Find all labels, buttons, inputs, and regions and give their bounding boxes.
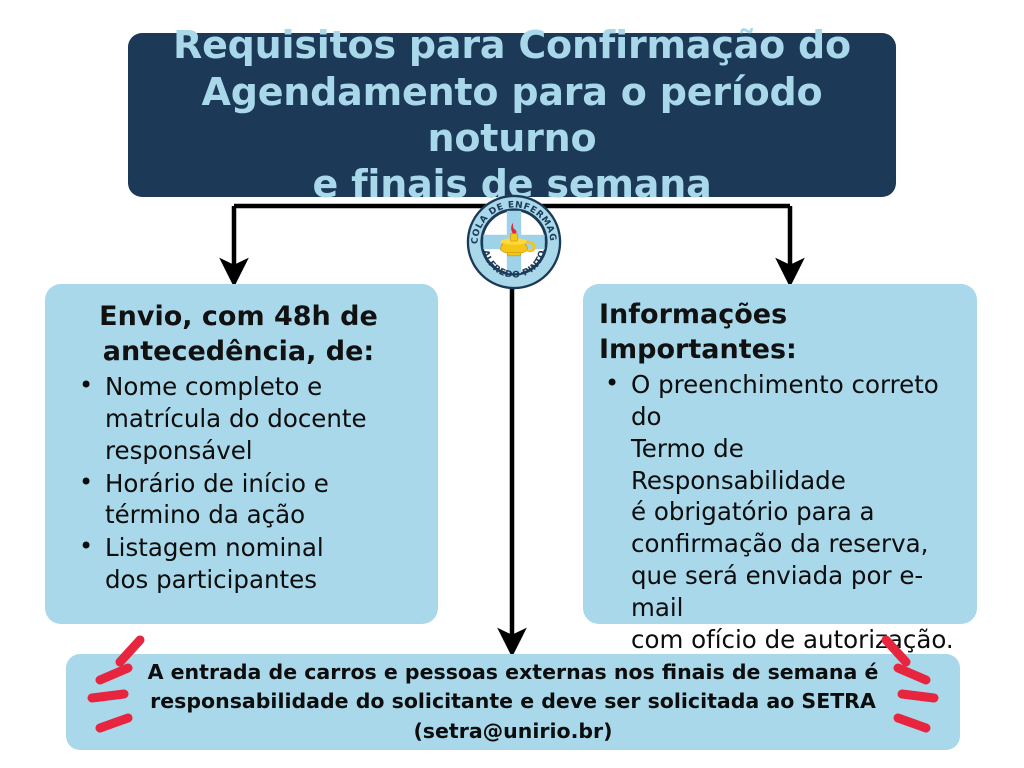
list-item: O preenchimento correto do Termo de Resp… — [595, 369, 963, 656]
bottom-notice-text: A entrada de carros e pessoas externas n… — [148, 658, 879, 745]
card-envio-heading: Envio, com 48h de antecedência, de: — [61, 300, 416, 369]
infographic-poster: Requisitos para Confirmação do Agendamen… — [0, 0, 1024, 768]
list-item: Nome completo e matrícula do docente res… — [67, 371, 416, 467]
card-envio-bullet-list: Nome completo e matrícula do docente res… — [61, 371, 416, 596]
card-envio: Envio, com 48h de antecedência, de: Nome… — [45, 284, 438, 624]
bottom-notice-banner: A entrada de carros e pessoas externas n… — [66, 654, 960, 750]
list-item: Listagem nominal dos participantes — [67, 532, 416, 596]
card-informacoes-heading: Informações Importantes: — [595, 298, 963, 367]
title-banner: Requisitos para Confirmação do Agendamen… — [128, 33, 896, 197]
escola-de-enfermagem-logo-icon: • ESCOLA DE ENFERMAGEM • ALFREDO PINTO — [466, 194, 562, 290]
list-item: Horário de início e término da ação — [67, 468, 416, 532]
page-title: Requisitos para Confirmação do Agendamen… — [154, 22, 870, 207]
card-informacoes: Informações Importantes: O preenchimento… — [583, 284, 977, 624]
